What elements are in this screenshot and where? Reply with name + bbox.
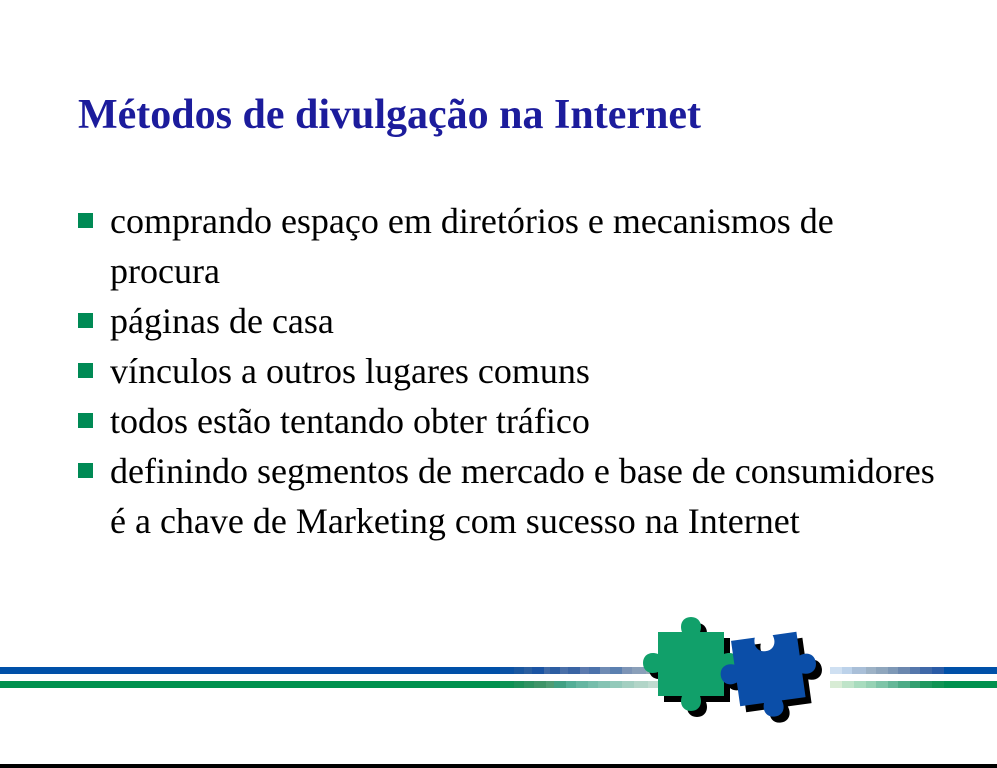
list-item-text: definindo segmentos de mercado e base de…: [110, 446, 938, 546]
rule-segment: [598, 681, 610, 688]
rule-segment: [944, 667, 997, 674]
rule-segment: [568, 667, 580, 674]
rule-segment: [854, 681, 866, 688]
puzzle-pieces-graphic: [628, 608, 838, 743]
rule-segment: [898, 667, 910, 674]
rule-segment: [0, 681, 500, 688]
list-item-text: comprando espaço em diretórios e mecanis…: [110, 196, 938, 296]
bullet-square-icon: [78, 313, 93, 328]
rule-segment: [610, 681, 622, 688]
rule-segment: [514, 667, 524, 674]
rule-segment: [524, 667, 532, 674]
rule-segment: [944, 681, 997, 688]
decorative-rule-blue: [0, 667, 997, 674]
bullet-square-icon: [78, 463, 93, 478]
rule-segment: [920, 681, 932, 688]
rule-segment: [600, 667, 610, 674]
rule-segment: [888, 667, 898, 674]
list-item: vínculos a outros lugares comuns: [78, 346, 938, 396]
rule-segment: [580, 667, 589, 674]
rule-segment: [576, 681, 588, 688]
rule-segment: [546, 681, 554, 688]
rule-segment: [932, 667, 944, 674]
decorative-rule-green: [0, 681, 997, 688]
rule-segment: [0, 667, 500, 674]
rule-segment: [610, 667, 622, 674]
bullet-list: comprando espaço em diretórios e mecanis…: [78, 196, 938, 546]
rule-segment: [589, 667, 600, 674]
list-item: comprando espaço em diretórios e mecanis…: [78, 196, 938, 296]
list-item: todos estão tentando obter tráfico: [78, 396, 938, 446]
slide-title: Métodos de divulgação na Internet: [78, 93, 918, 137]
list-item: definindo segmentos de mercado e base de…: [78, 446, 938, 546]
presentation-slide: Métodos de divulgação na Internet compra…: [0, 0, 997, 768]
bullet-square-icon: [78, 413, 93, 428]
rule-segment: [898, 681, 910, 688]
rule-segment: [910, 681, 920, 688]
rule-segment: [866, 667, 876, 674]
rule-segment: [842, 681, 854, 688]
rule-segment: [888, 681, 898, 688]
rule-segment: [554, 681, 566, 688]
rule-segment: [500, 667, 514, 674]
rule-segment: [514, 681, 524, 688]
list-item: páginas de casa: [78, 296, 938, 346]
list-item-text: vínculos a outros lugares comuns: [110, 346, 938, 396]
rule-segment: [852, 667, 866, 674]
rule-segment: [534, 681, 546, 688]
rule-segment: [920, 667, 932, 674]
rule-segment: [842, 667, 852, 674]
rule-segment: [500, 681, 514, 688]
rule-segment: [524, 681, 534, 688]
bullet-square-icon: [78, 363, 93, 378]
rule-segment: [588, 681, 598, 688]
rule-segment: [532, 667, 544, 674]
rule-segment: [910, 667, 920, 674]
rule-segment: [932, 681, 944, 688]
list-item-text: todos estão tentando obter tráfico: [110, 396, 938, 446]
list-item-text: páginas de casa: [110, 296, 938, 346]
rule-segment: [876, 667, 888, 674]
bullet-square-icon: [78, 213, 93, 228]
rule-segment: [566, 681, 576, 688]
rule-segment: [866, 681, 876, 688]
rule-segment: [550, 667, 560, 674]
rule-segment: [560, 667, 568, 674]
rule-segment: [876, 681, 888, 688]
